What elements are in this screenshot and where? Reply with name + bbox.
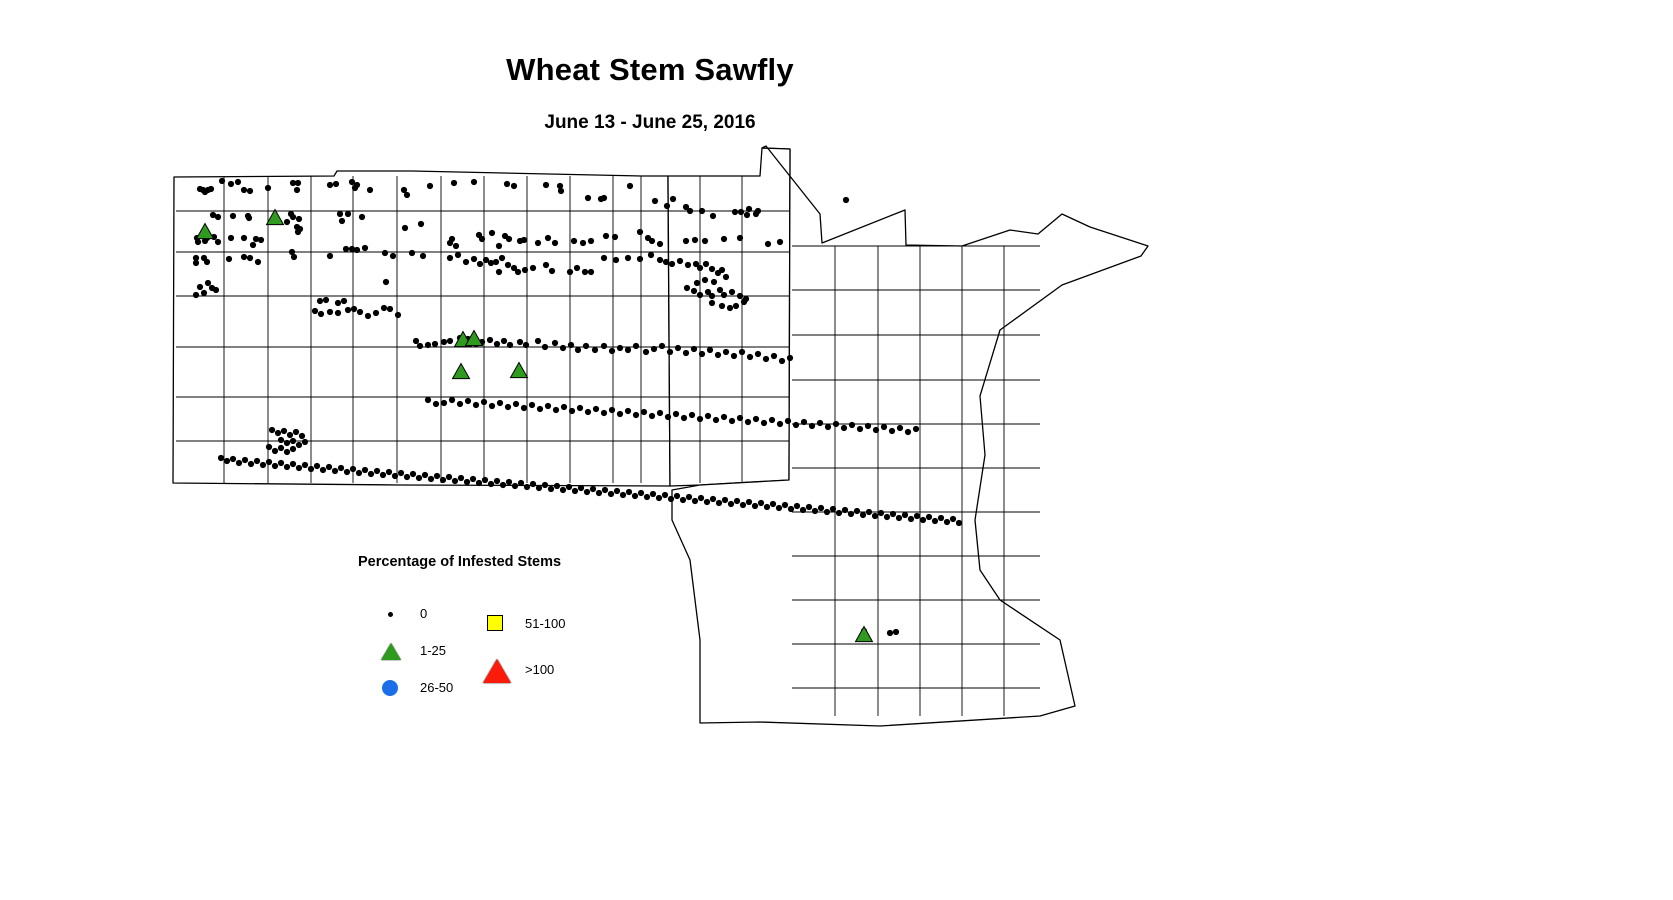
map-point-zero (236, 460, 242, 466)
map-point-zero (609, 407, 615, 413)
legend-title: Percentage of Infested Stems (358, 554, 561, 570)
map-point-zero (246, 215, 252, 221)
map-point-zero (657, 410, 663, 416)
map-point-zero (944, 519, 950, 525)
map-point-zero (317, 298, 323, 304)
map-point-zero (614, 488, 620, 494)
map-point-zero (367, 187, 373, 193)
map-point-zero (588, 238, 594, 244)
map-point-zero (493, 259, 499, 265)
map-point-zero (740, 502, 746, 508)
map-point-zero (427, 183, 433, 189)
map-point-zero (497, 400, 503, 406)
map-point-zero (703, 261, 709, 267)
map-point-zero (521, 237, 527, 243)
map-point-zero (345, 211, 351, 217)
map-point-zero (777, 239, 783, 245)
map-point-zero (590, 486, 596, 492)
map-point-zero (326, 464, 332, 470)
map-point-zero (548, 486, 554, 492)
map-point-zero (574, 265, 580, 271)
map-point-zero (530, 481, 536, 487)
map-point-zero (496, 269, 502, 275)
map-point-zero (677, 258, 683, 264)
map-point-zero (776, 505, 782, 511)
map-point-zero (719, 267, 725, 273)
map-point-zero (487, 337, 493, 343)
map-point-zero (755, 351, 761, 357)
legend-label-over-100: >100 (525, 662, 554, 677)
map-point-zero (719, 303, 725, 309)
map-point-zero (278, 437, 284, 443)
map-point-zero (707, 347, 713, 353)
map-point-zero (511, 183, 517, 189)
map-point-zero (449, 397, 455, 403)
map-point-zero (392, 473, 398, 479)
map-point-zero (687, 208, 693, 214)
map-point-zero (314, 463, 320, 469)
map-point-zero (302, 439, 308, 445)
map-point-zero (505, 404, 511, 410)
map-point-zero (535, 240, 541, 246)
map-point-zero (601, 195, 607, 201)
map-point-zero (697, 416, 703, 422)
map-point-zero (824, 509, 830, 515)
map-point-zero (219, 178, 225, 184)
map-point-zero (812, 508, 818, 514)
map-point-zero (889, 428, 895, 434)
map-point-zero (729, 289, 735, 295)
map-point-zero (507, 342, 513, 348)
map-point-zero (857, 426, 863, 432)
map-point-zero (215, 239, 221, 245)
map-point-zero (675, 345, 681, 351)
map-point-zero (741, 299, 747, 305)
map-point-zero (489, 403, 495, 409)
map-point-zero (553, 407, 559, 413)
map-point-zero (765, 241, 771, 247)
map-point-zero (248, 461, 254, 467)
map-point-zero (763, 356, 769, 362)
map-point-zero (365, 313, 371, 319)
map-point-zero (545, 403, 551, 409)
map-point-zero (686, 494, 692, 500)
map-point-zero (713, 417, 719, 423)
map-point-zero (543, 262, 549, 268)
map-point-zero (465, 398, 471, 404)
map-point-zero (577, 405, 583, 411)
map-point-zero (193, 292, 199, 298)
map-point-zero (250, 242, 256, 248)
map-point-zero (659, 343, 665, 349)
map-point-zero (841, 425, 847, 431)
map-point-zero (284, 440, 290, 446)
map-point-zero (535, 338, 541, 344)
map-point-zero (601, 410, 607, 416)
map-point-zero (302, 462, 308, 468)
map-point-zero (446, 474, 452, 480)
map-point-zero (950, 516, 956, 522)
map-point-zero (501, 338, 507, 344)
map-point-zero (464, 479, 470, 485)
map-point-zero (265, 185, 271, 191)
map-point-zero (854, 508, 860, 514)
county-map (0, 0, 1673, 900)
map-point-zero (842, 507, 848, 513)
map-point-zero (335, 300, 341, 306)
map-point-zero (601, 255, 607, 261)
map-point-zero (733, 303, 739, 309)
map-point-zero (644, 494, 650, 500)
map-point-zero (494, 478, 500, 484)
map-point-zero (575, 347, 581, 353)
map-point-zero (782, 502, 788, 508)
map-point-zero (327, 309, 333, 315)
map-point-zero (633, 343, 639, 349)
map-point-zero (569, 408, 575, 414)
map-point-zero (582, 269, 588, 275)
map-point-zero (737, 235, 743, 241)
map-point-zero (402, 225, 408, 231)
map-point-zero (664, 203, 670, 209)
map-point-zero (926, 514, 932, 520)
map-point-zero (506, 479, 512, 485)
map-point-zero (362, 245, 368, 251)
map-point-zero (849, 422, 855, 428)
map-point-zero (716, 500, 722, 506)
map-point-zero (266, 459, 272, 465)
map-point-zero (649, 238, 655, 244)
map-point-zero (633, 412, 639, 418)
map-point-zero (560, 345, 566, 351)
blue-circle-icon (378, 676, 408, 702)
map-point-zero (764, 504, 770, 510)
map-point-zero (202, 189, 208, 195)
map-point-zero (723, 274, 729, 280)
map-point-zero (477, 261, 483, 267)
map-point-zero (825, 424, 831, 430)
map-point-zero (771, 353, 777, 359)
map-point-zero (517, 339, 523, 345)
map-point-zero (680, 497, 686, 503)
map-point-zero (732, 209, 738, 215)
map-point-zero (345, 307, 351, 313)
map-point-zero (258, 237, 264, 243)
map-point-zero (543, 182, 549, 188)
map-point-zero (793, 422, 799, 428)
map-point-zero (332, 468, 338, 474)
map-point-zero (585, 195, 591, 201)
map-point-zero (327, 253, 333, 259)
map-point-zero (913, 426, 919, 432)
map-point-zero (709, 266, 715, 272)
map-point-zero (215, 214, 221, 220)
map-point-zero (698, 495, 704, 501)
map-point-zero (896, 515, 902, 521)
map-point-zero (663, 259, 669, 265)
map-point-zero (373, 310, 379, 316)
map-point-zero (734, 498, 740, 504)
map-point-zero (218, 455, 224, 461)
map-point-zero (506, 236, 512, 242)
map-point-zero (637, 256, 643, 262)
map-point-zero (523, 342, 529, 348)
map-point-zero (670, 196, 676, 202)
map-point-zero (356, 470, 362, 476)
state-outlines (173, 146, 1148, 726)
legend-item-over-100: >100 (483, 658, 633, 704)
map-point-zero (241, 235, 247, 241)
map-point-zero (521, 405, 527, 411)
legend-label-1-25: 1-25 (420, 643, 446, 658)
map-point-zero (710, 213, 716, 219)
map-point-zero (380, 472, 386, 478)
map-point-zero (738, 209, 744, 215)
map-point-zero (709, 293, 715, 299)
map-point-zero (208, 186, 214, 192)
map-point-zero (758, 500, 764, 506)
map-point-zero (721, 236, 727, 242)
map-point-zero (272, 448, 278, 454)
map-point-zero (455, 252, 461, 258)
map-point-zero (447, 240, 453, 246)
map-point-zero (657, 257, 663, 263)
map-point-zero (482, 477, 488, 483)
map-point-zero (452, 478, 458, 484)
map-point-zero (350, 466, 356, 472)
map-point-zero (932, 518, 938, 524)
map-point-zero (632, 493, 638, 499)
map-point-zero (320, 467, 326, 473)
map-point-zero (769, 417, 775, 423)
map-point-zero (710, 496, 716, 502)
map-point-zero (308, 466, 314, 472)
map-point-zero (425, 342, 431, 348)
map-point-zero (788, 506, 794, 512)
map-point-zero (938, 515, 944, 521)
map-point-zero (818, 505, 824, 511)
map-point-zero (747, 354, 753, 360)
map-point-zero (785, 418, 791, 424)
legend-item-51-100: 51-100 (483, 612, 633, 658)
map-point-zero (266, 444, 272, 450)
map-point-zero (522, 267, 528, 273)
map-point-zero (351, 306, 357, 312)
map-point-zero (617, 345, 623, 351)
map-point-zero (843, 197, 849, 203)
map-point-zero (410, 471, 416, 477)
map-point-zero (451, 180, 457, 186)
map-point-zero (602, 487, 608, 493)
map-point-zero (683, 238, 689, 244)
map-point-zero (417, 343, 423, 349)
map-point-zero (413, 338, 419, 344)
map-point-zero (728, 501, 734, 507)
map-point-zero (684, 285, 690, 291)
map-point-zero (420, 253, 426, 259)
map-point-zero (230, 213, 236, 219)
map-point-zero (344, 469, 350, 475)
map-point-zero (625, 408, 631, 414)
map-point-zero (275, 430, 281, 436)
map-point-zero (897, 425, 903, 431)
map-point-zero (513, 401, 519, 407)
map-point-zero (699, 351, 705, 357)
map-point-zero (335, 310, 341, 316)
map-point-zero (542, 482, 548, 488)
map-point-zero (848, 511, 854, 517)
map-point-zero (729, 418, 735, 424)
map-point-zero (390, 253, 396, 259)
map-point-zero (689, 412, 695, 418)
map-point-zero (908, 516, 914, 522)
map-point-zero (584, 489, 590, 495)
map-point-zero (866, 509, 872, 515)
map-point-zero (761, 420, 767, 426)
map-point-zero (296, 465, 302, 471)
black-dot-icon (378, 602, 408, 628)
map-point-zero (494, 341, 500, 347)
map-point-zero (278, 460, 284, 466)
map-point-zero (549, 268, 555, 274)
map-point-zero (428, 476, 434, 482)
map-point-zero (278, 445, 284, 451)
red-triangle-icon (483, 658, 513, 684)
legend-label-zero: 0 (420, 606, 427, 621)
map-point-zero (662, 492, 668, 498)
map-point-zero (683, 350, 689, 356)
map-point-zero (745, 419, 751, 425)
map-point-zero (731, 353, 737, 359)
map-point-zero (878, 510, 884, 516)
map-point-zero (817, 420, 823, 426)
map-point-zero (441, 400, 447, 406)
map-point-zero (489, 230, 495, 236)
map-point-zero (529, 402, 535, 408)
map-point-zero (665, 414, 671, 420)
map-point-zero (884, 514, 890, 520)
map-point-zero (453, 243, 459, 249)
map-page: Wheat Stem Sawfly June 13 - June 25, 201… (0, 0, 1673, 900)
map-point-zero (247, 188, 253, 194)
map-point-zero (566, 484, 572, 490)
map-point-zero (242, 457, 248, 463)
map-point-zero (865, 423, 871, 429)
map-point-zero (290, 446, 296, 452)
map-point-zero (860, 512, 866, 518)
map-point-zero (383, 279, 389, 285)
map-point-zero (323, 297, 329, 303)
map-point-zero (674, 493, 680, 499)
map-point-zero (272, 463, 278, 469)
map-point-zero (603, 233, 609, 239)
map-point-zero (656, 495, 662, 501)
map-point-zero (668, 496, 674, 502)
map-point-zero (568, 342, 574, 348)
map-point-zero (291, 254, 297, 260)
map-point-zero (471, 179, 477, 185)
map-point-zero (287, 432, 293, 438)
map-point-zero (422, 472, 428, 478)
map-point-zero (652, 198, 658, 204)
map-point-zero (691, 346, 697, 352)
map-point-zero (694, 280, 700, 286)
map-point-zero (620, 492, 626, 498)
map-point-zero (779, 358, 785, 364)
map-point-zero (787, 355, 793, 361)
map-point-zero (746, 499, 752, 505)
map-point-zero (601, 343, 607, 349)
map-point-zero (381, 305, 387, 311)
map-point-zero (794, 503, 800, 509)
map-point-zero (705, 413, 711, 419)
map-point-zero (425, 397, 431, 403)
map-point-zero (398, 470, 404, 476)
map-point-zero (294, 187, 300, 193)
map-point-zero (542, 344, 548, 350)
map-point-zero (205, 280, 211, 286)
map-point-zero (374, 468, 380, 474)
map-point-zero (893, 629, 899, 635)
map-point-zero (626, 489, 632, 495)
map-point-zero (638, 490, 644, 496)
map-point-zero (447, 255, 453, 261)
map-point-zero (914, 513, 920, 519)
map-point-zero (201, 290, 207, 296)
map-point-zero (920, 517, 926, 523)
map-point-zero (567, 269, 573, 275)
map-point-zero (609, 348, 615, 354)
green-triangle-icon (378, 639, 408, 665)
map-point-zero (318, 311, 324, 317)
map-point-zero (228, 235, 234, 241)
map-point-zero (722, 497, 728, 503)
map-point-zero (235, 179, 241, 185)
map-point-zero (284, 219, 290, 225)
map-point-zero (471, 256, 477, 262)
map-point-zero (657, 241, 663, 247)
map-point-zero (432, 341, 438, 347)
map-point-zero (416, 475, 422, 481)
map-point-zero (504, 181, 510, 187)
map-point-zero (418, 221, 424, 227)
map-point-zero (770, 501, 776, 507)
map-point-zero (715, 352, 721, 358)
map-point-zero (470, 476, 476, 482)
map-point-zero (295, 180, 301, 186)
map-point-zero (536, 485, 542, 491)
map-point-zero (691, 288, 697, 294)
map-point-zero (836, 510, 842, 516)
map-point-zero (617, 411, 623, 417)
map-point-zero (537, 406, 543, 412)
map-point-zero (612, 234, 618, 240)
map-point-zero (554, 483, 560, 489)
map-point-zero (737, 415, 743, 421)
map-point-zero (699, 208, 705, 214)
map-point-zero (193, 260, 199, 266)
map-point-zero (260, 462, 266, 468)
map-point-zero (479, 236, 485, 242)
map-point-zero (386, 469, 392, 475)
map-point-zero (801, 419, 807, 425)
map-point-zero (296, 442, 302, 448)
map-point-zero (552, 240, 558, 246)
map-point-zero (697, 292, 703, 298)
map-point-zero (404, 192, 410, 198)
map-point-zero (560, 487, 566, 493)
map-point-zero (333, 181, 339, 187)
